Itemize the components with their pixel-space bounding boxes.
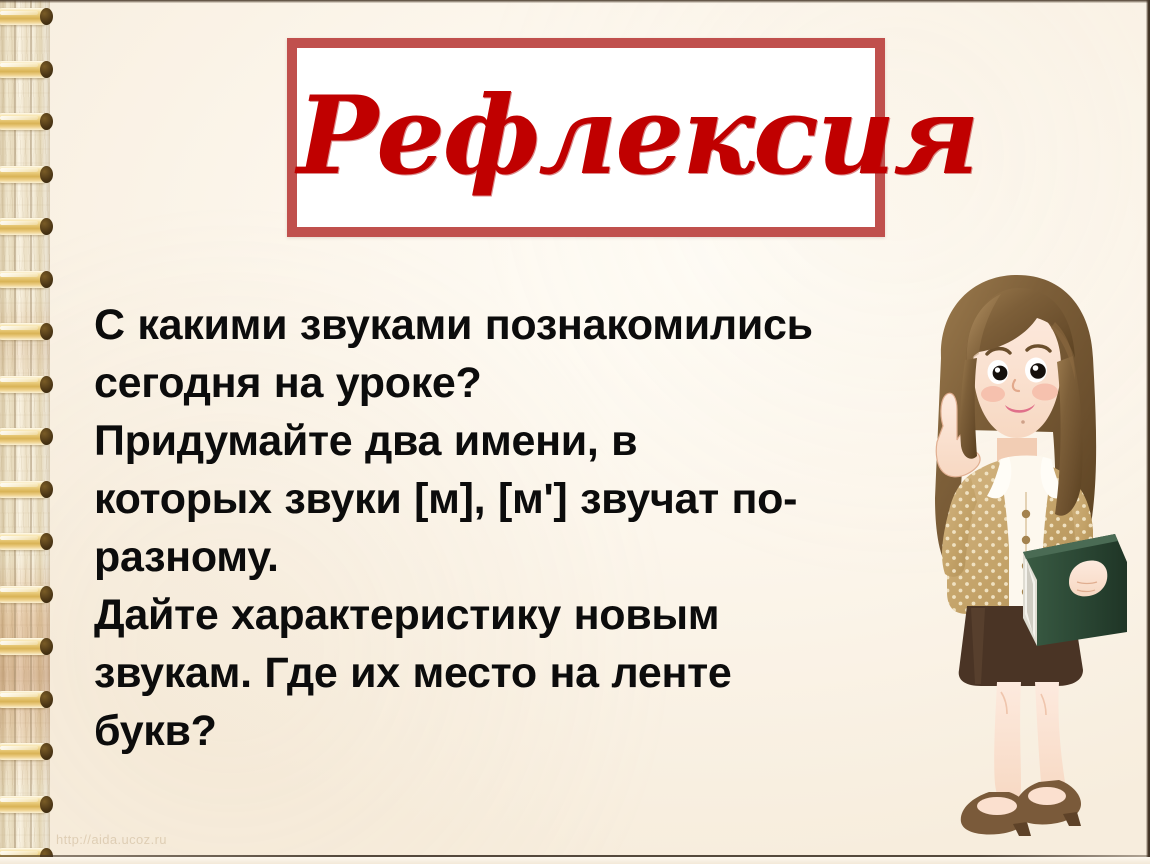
question-line: разному. — [94, 528, 884, 586]
spiral-ring — [0, 61, 50, 78]
lesson-questions-block: С какими звуками познакомились сегодня н… — [94, 296, 884, 760]
button — [1022, 536, 1030, 544]
spiral-ring — [0, 376, 50, 393]
shoe-opening-left — [977, 797, 1017, 815]
page-title: Рефлексия — [297, 81, 875, 189]
heel-right — [1063, 812, 1081, 826]
schoolgirl-illustration — [905, 262, 1150, 842]
chin-dot — [1021, 420, 1025, 424]
spiral-ring — [0, 113, 50, 130]
spiral-ring — [0, 638, 50, 655]
spiral-ring — [0, 166, 50, 183]
spiral-ring — [0, 691, 50, 708]
cheek-right — [1032, 384, 1058, 401]
page-edge-top — [0, 0, 1150, 3]
title-frame: Рефлексия — [287, 38, 885, 237]
question-line: букв? — [94, 702, 884, 760]
page-edge-right — [1146, 0, 1150, 864]
question-line: звукам. Где их место на ленте — [94, 644, 884, 702]
spiral-ring — [0, 218, 50, 235]
spiral-ring — [0, 481, 50, 498]
button — [1022, 510, 1030, 518]
spiral-ring — [0, 8, 50, 25]
spiral-ring — [0, 796, 50, 813]
question-line: которых звуки [м], [м'] звучат по- — [94, 470, 884, 528]
question-line: Придумайте два имени, в — [94, 412, 884, 470]
eye-glint-right — [1033, 365, 1039, 371]
heel-left — [1013, 822, 1031, 836]
shoe-opening-right — [1028, 787, 1066, 805]
source-watermark: http://aida.ucoz.ru — [56, 832, 167, 847]
eye-glint-left — [995, 367, 1000, 372]
page-foot-strip — [0, 857, 1150, 864]
spiral-ring — [0, 323, 50, 340]
pupil-left — [993, 366, 1008, 381]
spiral-ring — [0, 271, 50, 288]
spiral-ring — [0, 428, 50, 445]
question-line: сегодня на уроке? — [94, 354, 884, 412]
cheek-left — [981, 386, 1005, 402]
question-line: Дайте характеристику новым — [94, 586, 884, 644]
pupil-right — [1030, 363, 1046, 379]
slide-canvas: Рефлексия С какими звуками познакомились… — [0, 0, 1150, 864]
question-line: С какими звуками познакомились — [94, 296, 884, 354]
spiral-ring — [0, 743, 50, 760]
leg-left — [994, 682, 1021, 806]
spiral-ring — [0, 586, 50, 603]
spiral-ring — [0, 533, 50, 550]
